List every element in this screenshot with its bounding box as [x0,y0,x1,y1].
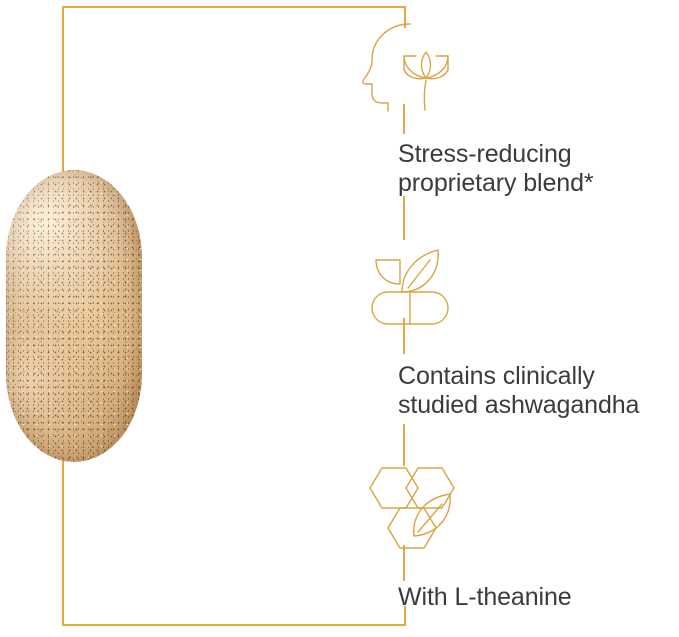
feature-text-ashwagandha: Contains clinically studied ashwagandha [398,362,639,419]
tablet-body [6,170,142,462]
head-lotus-icon [358,22,468,112]
honeycomb-leaf-icon [358,462,468,552]
feature-text-line: With L-theanine [398,583,572,612]
tablet-highlight [6,170,142,462]
capsule-leaf-icon-svg [358,242,468,332]
feature-text-line: Stress-reducing [398,140,594,169]
infographic-canvas: Stress-reducing proprietary blend* Conta… [0,0,679,637]
head-lotus-icon-svg [358,22,468,112]
frame-top-line [62,6,406,8]
feature-text-line: proprietary blend* [398,169,594,198]
feature-text-line: Contains clinically [398,362,639,391]
connector-segment [403,196,405,240]
product-tablet [6,170,142,462]
connector-segment [403,424,405,466]
honeycomb-leaf-icon-svg [358,462,468,552]
feature-text-stress-reducing: Stress-reducing proprietary blend* [398,140,594,197]
feature-text-l-theanine: With L-theanine [398,583,572,612]
feature-text-line: studied ashwagandha [398,391,639,420]
capsule-leaf-icon [358,242,468,332]
frame-bottom-line [62,624,406,626]
